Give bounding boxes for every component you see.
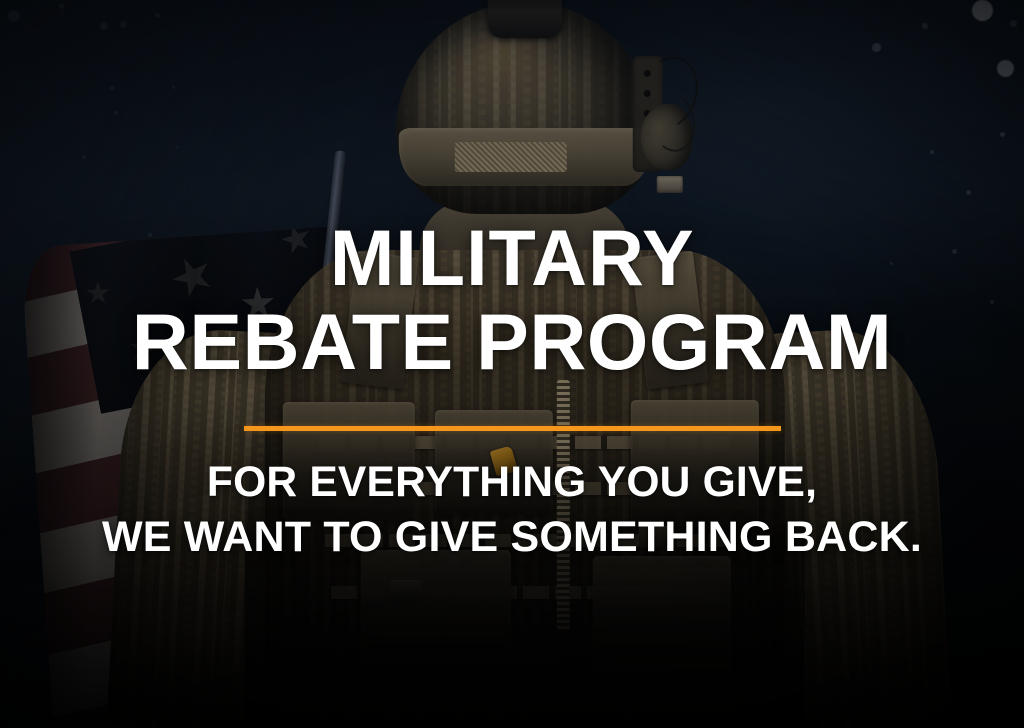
military-rebate-program-banner: MILITARY REBATE PROGRAM FOR EVERYTHING Y…	[0, 0, 1024, 728]
subheadline-line-2: WE WANT TO GIVE SOMETHING BACK.	[102, 513, 922, 561]
headline-line-1: MILITARY	[139, 219, 884, 296]
subheadline-line-1: FOR EVERYTHING YOU GIVE,	[106, 458, 918, 506]
orange-divider-rule	[244, 426, 781, 431]
page-title: MILITARY REBATE PROGRAM	[132, 21, 892, 380]
headline-line-2: REBATE PROGRAM	[132, 303, 892, 380]
text-overlay: MILITARY REBATE PROGRAM FOR EVERYTHING Y…	[0, 0, 1024, 728]
subheadline: FOR EVERYTHING YOU GIVE, WE WANT TO GIVE…	[102, 458, 922, 561]
